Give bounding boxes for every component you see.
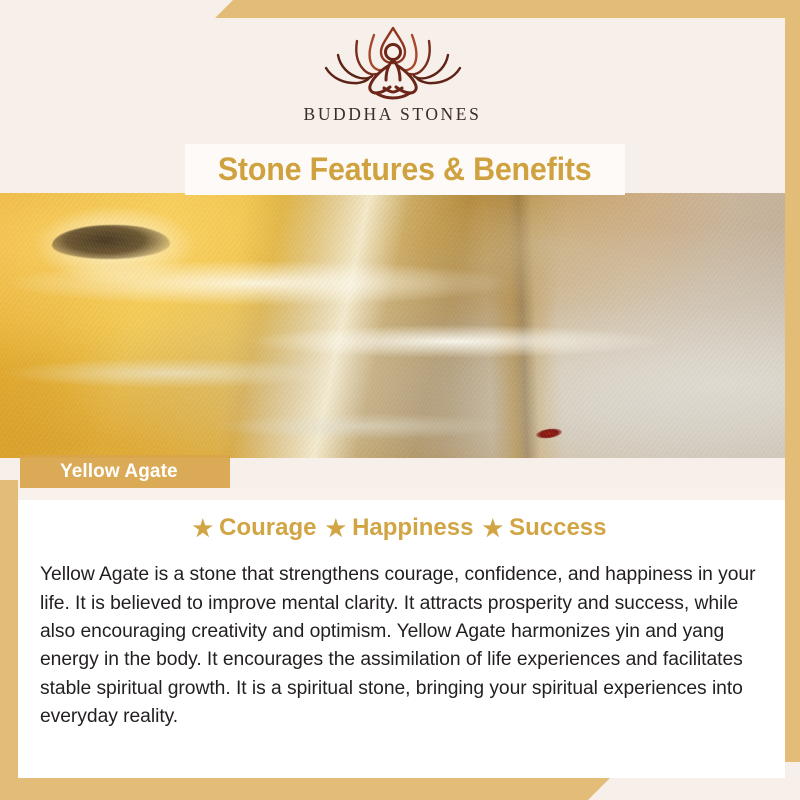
page-title: Stone Features & Benefits xyxy=(218,151,592,188)
frame-accent-bottom xyxy=(0,778,610,800)
star-icon: ★ xyxy=(325,517,346,540)
frame-accent-left xyxy=(0,480,18,800)
keyword-label-courage: Courage xyxy=(219,514,316,542)
lotus-meditation-icon xyxy=(308,24,478,102)
stone-name-band: Yellow Agate xyxy=(20,455,230,488)
stone-grain-layer xyxy=(0,193,785,458)
stone-features-poster: BUDDHA STONES Stone Features & Benefits … xyxy=(0,0,800,800)
keyword-item-success: ★ Success xyxy=(482,514,606,542)
description-panel: ★ Courage ★ Happiness ★ Success Yellow A… xyxy=(18,488,785,778)
stone-photo xyxy=(0,193,785,458)
stone-name-label: Yellow Agate xyxy=(60,461,178,483)
keyword-label-happiness: Happiness xyxy=(352,514,473,542)
star-icon: ★ xyxy=(482,517,503,540)
frame-accent-top xyxy=(215,0,800,18)
frame-accent-right xyxy=(785,0,800,762)
stone-description: Yellow Agate is a stone that strengthens… xyxy=(38,561,761,731)
page-title-band: Stone Features & Benefits xyxy=(185,144,625,195)
keyword-item-courage: ★ Courage xyxy=(192,514,316,542)
brand-header: BUDDHA STONES xyxy=(0,18,785,144)
keyword-label-success: Success xyxy=(509,514,606,542)
star-icon: ★ xyxy=(192,517,213,540)
keyword-item-happiness: ★ Happiness xyxy=(325,514,473,542)
brand-name: BUDDHA STONES xyxy=(304,104,482,125)
keyword-row: ★ Courage ★ Happiness ★ Success xyxy=(38,514,761,542)
